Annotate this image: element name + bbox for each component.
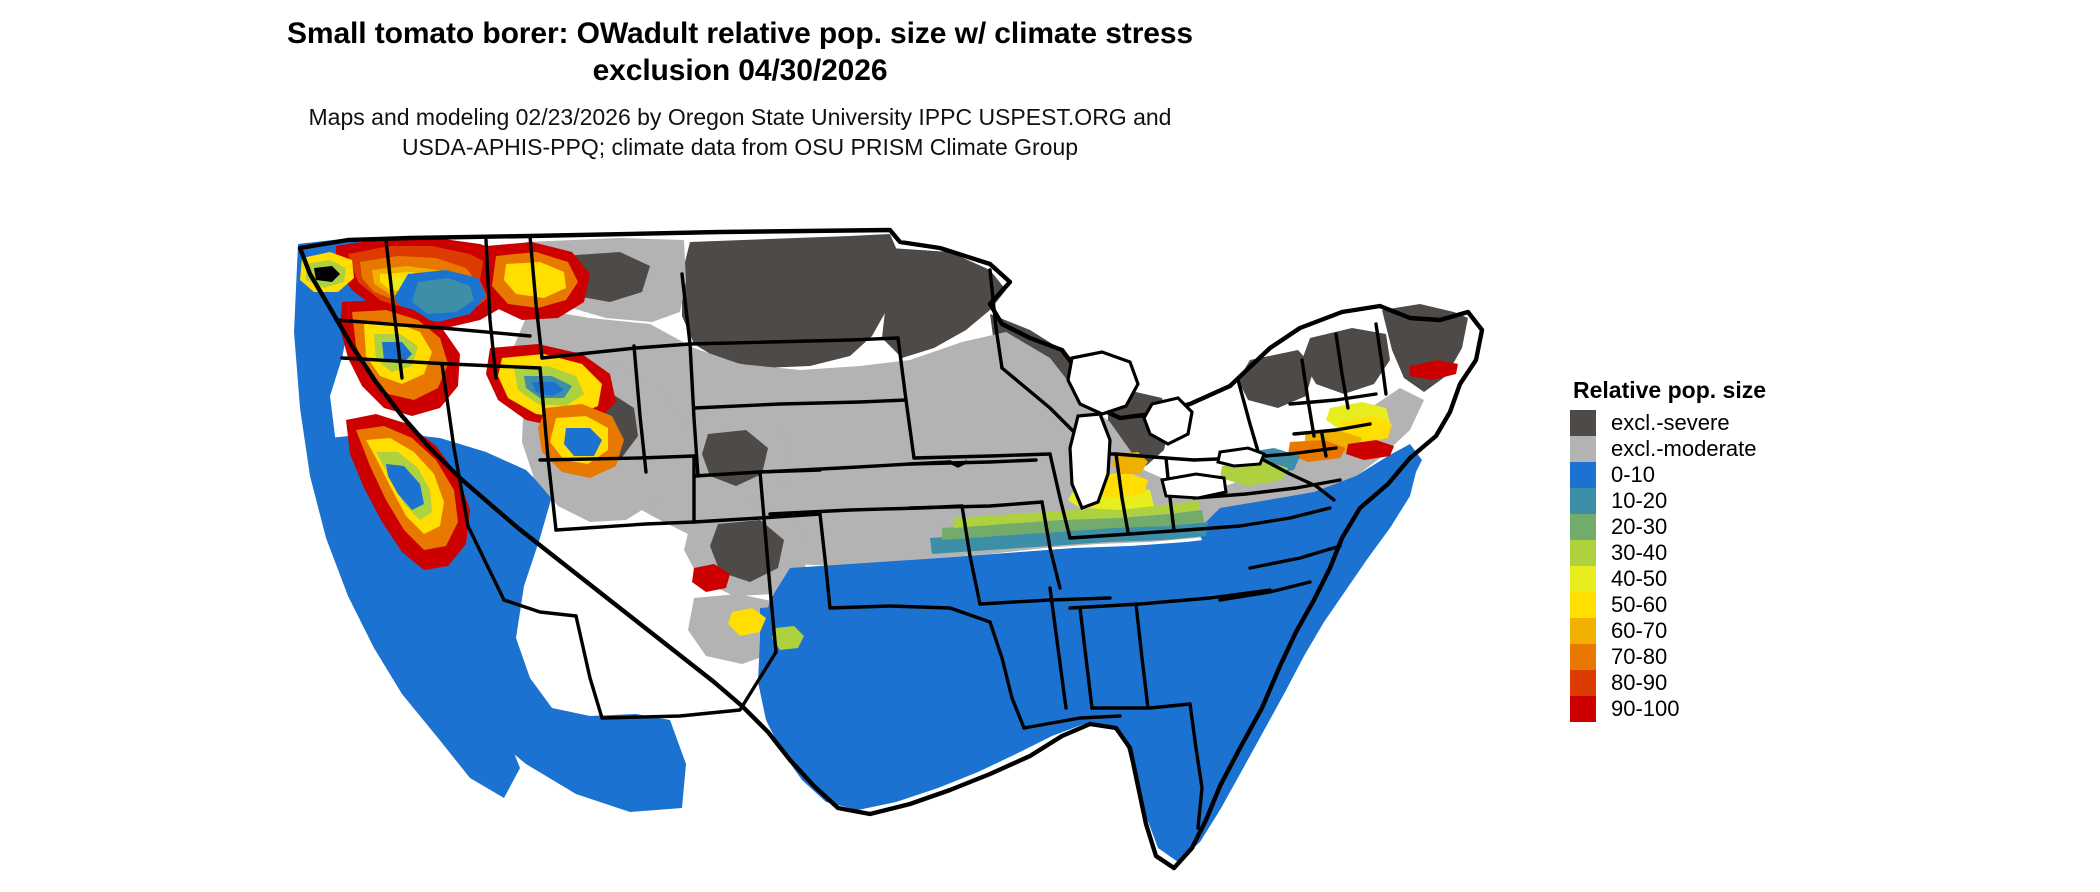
legend-item[interactable]: excl.-moderate: [1570, 436, 1900, 462]
page-subtitle: Maps and modeling 02/23/2026 by Oregon S…: [0, 103, 1480, 162]
legend-color-swatch: [1570, 644, 1596, 670]
legend-color-swatch: [1570, 436, 1596, 462]
lake-erie: [1162, 474, 1226, 498]
legend-item[interactable]: excl.-severe: [1570, 410, 1900, 436]
legend-item-label: 80-90: [1611, 672, 1667, 694]
map-container[interactable]: [290, 208, 1540, 880]
legend-item-label: excl.-moderate: [1611, 438, 1757, 460]
legend-item-label: 90-100: [1611, 698, 1680, 720]
legend-item[interactable]: 70-80: [1570, 644, 1900, 670]
lake-ontario: [1218, 448, 1264, 466]
legend-item[interactable]: 80-90: [1570, 670, 1900, 696]
legend-color-swatch: [1570, 488, 1596, 514]
legend-item[interactable]: 0-10: [1570, 462, 1900, 488]
legend-color-swatch: [1570, 514, 1596, 540]
title-block: Small tomato borer: OWadult relative pop…: [0, 16, 1480, 162]
legend-items-list: excl.-severeexcl.-moderate0-1010-2020-30…: [1570, 410, 1900, 722]
legend-item-label: 50-60: [1611, 594, 1667, 616]
legend-item[interactable]: 40-50: [1570, 566, 1900, 592]
legend-color-swatch: [1570, 670, 1596, 696]
map-page: Small tomato borer: OWadult relative pop…: [0, 0, 2100, 892]
us-choropleth-map[interactable]: [290, 208, 1540, 880]
legend-color-swatch: [1570, 618, 1596, 644]
legend-color-swatch: [1570, 540, 1596, 566]
legend-item-label: 70-80: [1611, 646, 1667, 668]
legend-item-label: 0-10: [1611, 464, 1655, 486]
legend-item-label: 10-20: [1611, 490, 1667, 512]
legend-item-label: excl.-severe: [1611, 412, 1730, 434]
legend-title: Relative pop. size: [1573, 378, 1900, 403]
legend-item[interactable]: 30-40: [1570, 540, 1900, 566]
legend-item-label: 30-40: [1611, 542, 1667, 564]
legend-item-label: 40-50: [1611, 568, 1667, 590]
legend-color-swatch: [1570, 592, 1596, 618]
legend-item[interactable]: 90-100: [1570, 696, 1900, 722]
legend-color-swatch: [1570, 410, 1596, 436]
legend-item[interactable]: 10-20: [1570, 488, 1900, 514]
page-title: Small tomato borer: OWadult relative pop…: [0, 16, 1480, 89]
legend-color-swatch: [1570, 566, 1596, 592]
legend-item[interactable]: 50-60: [1570, 592, 1900, 618]
legend-color-swatch: [1570, 462, 1596, 488]
legend-item-label: 60-70: [1611, 620, 1667, 642]
legend-item-label: 20-30: [1611, 516, 1667, 538]
legend-item[interactable]: 60-70: [1570, 618, 1900, 644]
legend-item[interactable]: 20-30: [1570, 514, 1900, 540]
map-legend: Relative pop. size excl.-severeexcl.-mod…: [1570, 378, 1900, 722]
legend-color-swatch: [1570, 696, 1596, 722]
